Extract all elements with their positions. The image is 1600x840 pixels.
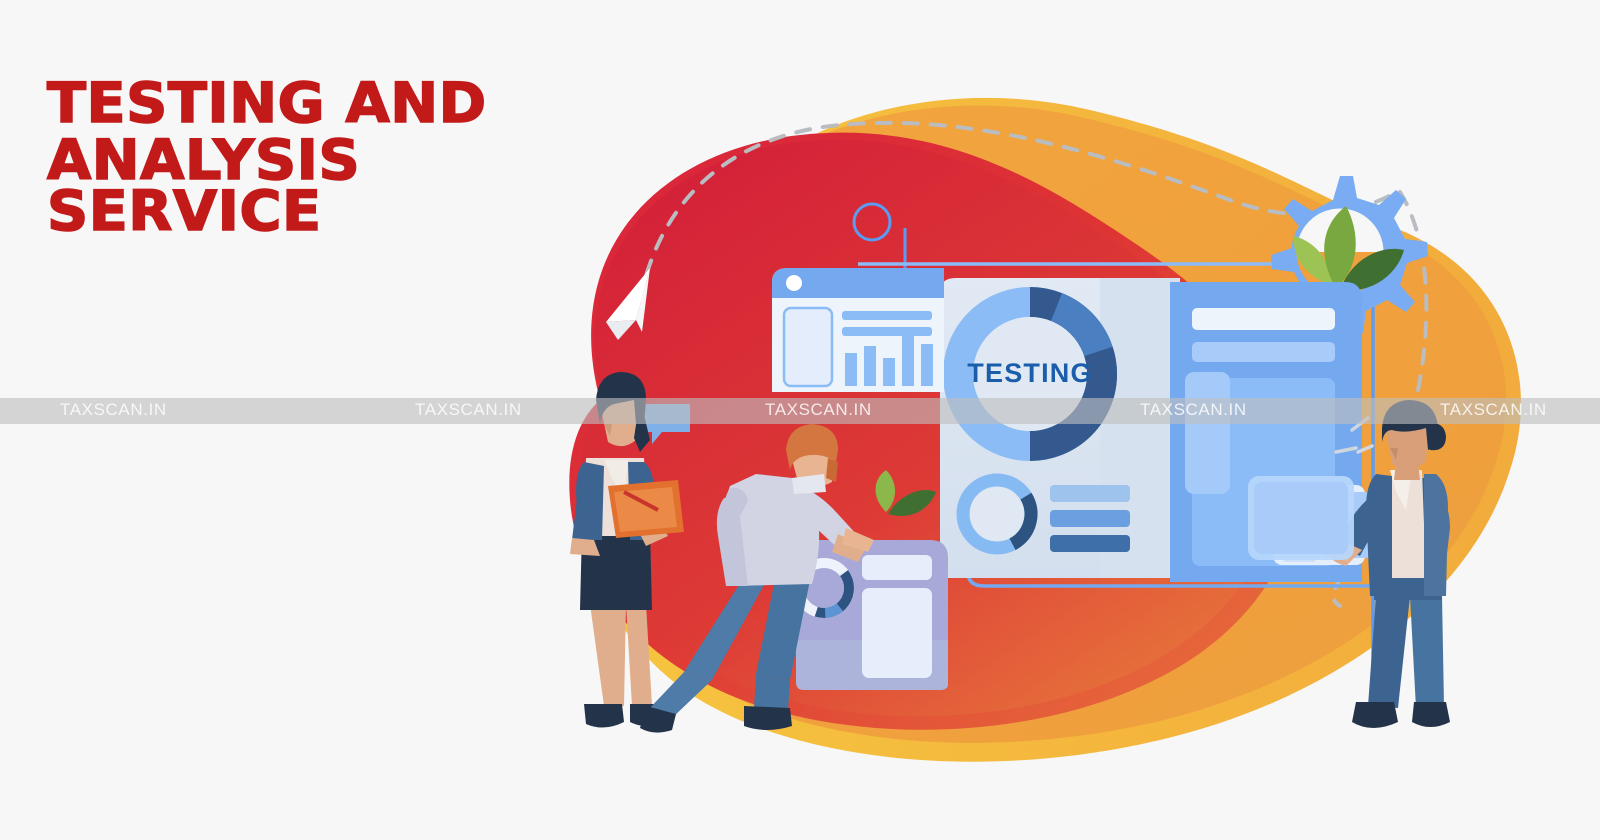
title-line-2: ANALYSIS SERVICE <box>47 135 588 237</box>
title-line-1: TESTING AND <box>47 78 588 129</box>
page-title: TESTING AND ANALYSIS SERVICE <box>47 78 567 237</box>
illustration-canvas: TESTING <box>0 0 1600 840</box>
sparkle-lines <box>1336 418 1372 452</box>
